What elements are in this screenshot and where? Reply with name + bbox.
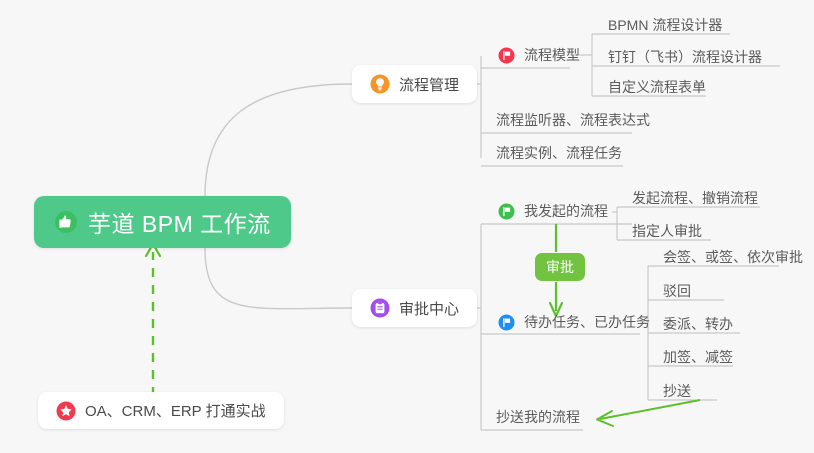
node-dingtalk-feishu-designer[interactable]: 钉钉（飞书）流程设计器 — [600, 42, 772, 72]
branch-node-process-management-label: 流程管理 — [399, 74, 459, 95]
annotation-approval-tag: 审批 — [535, 253, 585, 281]
node-start-cancel-process-label: 发起流程、撤销流程 — [632, 191, 758, 205]
thumbs-up-icon — [54, 210, 78, 234]
lightbulb-icon — [370, 74, 390, 94]
connector-root-to-process-management — [205, 84, 352, 196]
branch-node-process-management[interactable]: 流程管理 — [352, 65, 477, 103]
node-countersign-orsign-sequential[interactable]: 会签、或签、依次审批 — [655, 242, 813, 272]
node-dingtalk-feishu-designer-label: 钉钉（飞书）流程设计器 — [608, 50, 762, 64]
node-process-listener-expression-label: 流程监听器、流程表达式 — [496, 113, 650, 127]
node-bpmn-designer-label: BPMN 流程设计器 — [608, 18, 722, 32]
root-node[interactable]: 芋道 BPM 工作流 — [34, 196, 291, 248]
node-add-remove-sign-label: 加签、减签 — [663, 350, 733, 364]
flag-icon — [498, 314, 515, 331]
branch-node-approval-center[interactable]: 审批中心 — [352, 289, 477, 327]
node-process-instance-task[interactable]: 流程实例、流程任务 — [488, 138, 632, 168]
star-icon — [56, 401, 76, 421]
node-todo-done-tasks-label: 待办任务、已办任务 — [524, 315, 650, 329]
clipboard-icon — [370, 298, 390, 318]
node-my-initiated-processes[interactable]: 我发起的流程 — [490, 196, 618, 226]
node-process-model-label: 流程模型 — [524, 48, 580, 62]
node-delegate-transfer-label: 委派、转办 — [663, 317, 733, 331]
node-process-listener-expression[interactable]: 流程监听器、流程表达式 — [488, 105, 660, 135]
flag-icon — [498, 203, 515, 220]
node-todo-done-tasks[interactable]: 待办任务、已办任务 — [490, 307, 660, 337]
arrow-oa-crm-erp-to-root — [146, 244, 160, 396]
node-countersign-orsign-sequential-label: 会签、或签、依次审批 — [663, 250, 803, 264]
node-start-cancel-process[interactable]: 发起流程、撤销流程 — [624, 183, 768, 213]
flag-icon — [498, 47, 515, 64]
connector-root-to-approval-center — [205, 248, 352, 309]
node-cc-to-me-processes[interactable]: 抄送我的流程 — [488, 402, 590, 432]
node-bpmn-designer[interactable]: BPMN 流程设计器 — [600, 10, 732, 40]
node-my-initiated-processes-label: 我发起的流程 — [524, 204, 608, 218]
node-cc[interactable]: 抄送 — [655, 376, 701, 406]
node-cc-to-me-processes-label: 抄送我的流程 — [496, 410, 580, 424]
node-reject-label: 驳回 — [663, 284, 691, 298]
node-custom-process-form-label: 自定义流程表单 — [608, 80, 706, 94]
node-custom-process-form[interactable]: 自定义流程表单 — [600, 72, 716, 102]
node-cc-label: 抄送 — [663, 384, 691, 398]
root-node-label: 芋道 BPM 工作流 — [88, 205, 271, 239]
bottom-node-oa-crm-erp-label: OA、CRM、ERP 打通实战 — [85, 400, 266, 421]
mindmap-canvas: 芋道 BPM 工作流 流程管理 流程模型 BPMN 流程设计器 钉钉（飞书）流程 — [0, 0, 814, 453]
node-process-model[interactable]: 流程模型 — [490, 40, 590, 70]
node-add-remove-sign[interactable]: 加签、减签 — [655, 342, 743, 372]
bottom-node-oa-crm-erp[interactable]: OA、CRM、ERP 打通实战 — [38, 392, 284, 429]
node-process-instance-task-label: 流程实例、流程任务 — [496, 146, 622, 160]
branch-node-approval-center-label: 审批中心 — [399, 298, 459, 319]
node-delegate-transfer[interactable]: 委派、转办 — [655, 309, 743, 339]
node-assignee-approval-label: 指定人审批 — [632, 224, 702, 238]
annotation-approval-tag-label: 审批 — [546, 257, 574, 277]
node-reject[interactable]: 驳回 — [655, 276, 701, 306]
